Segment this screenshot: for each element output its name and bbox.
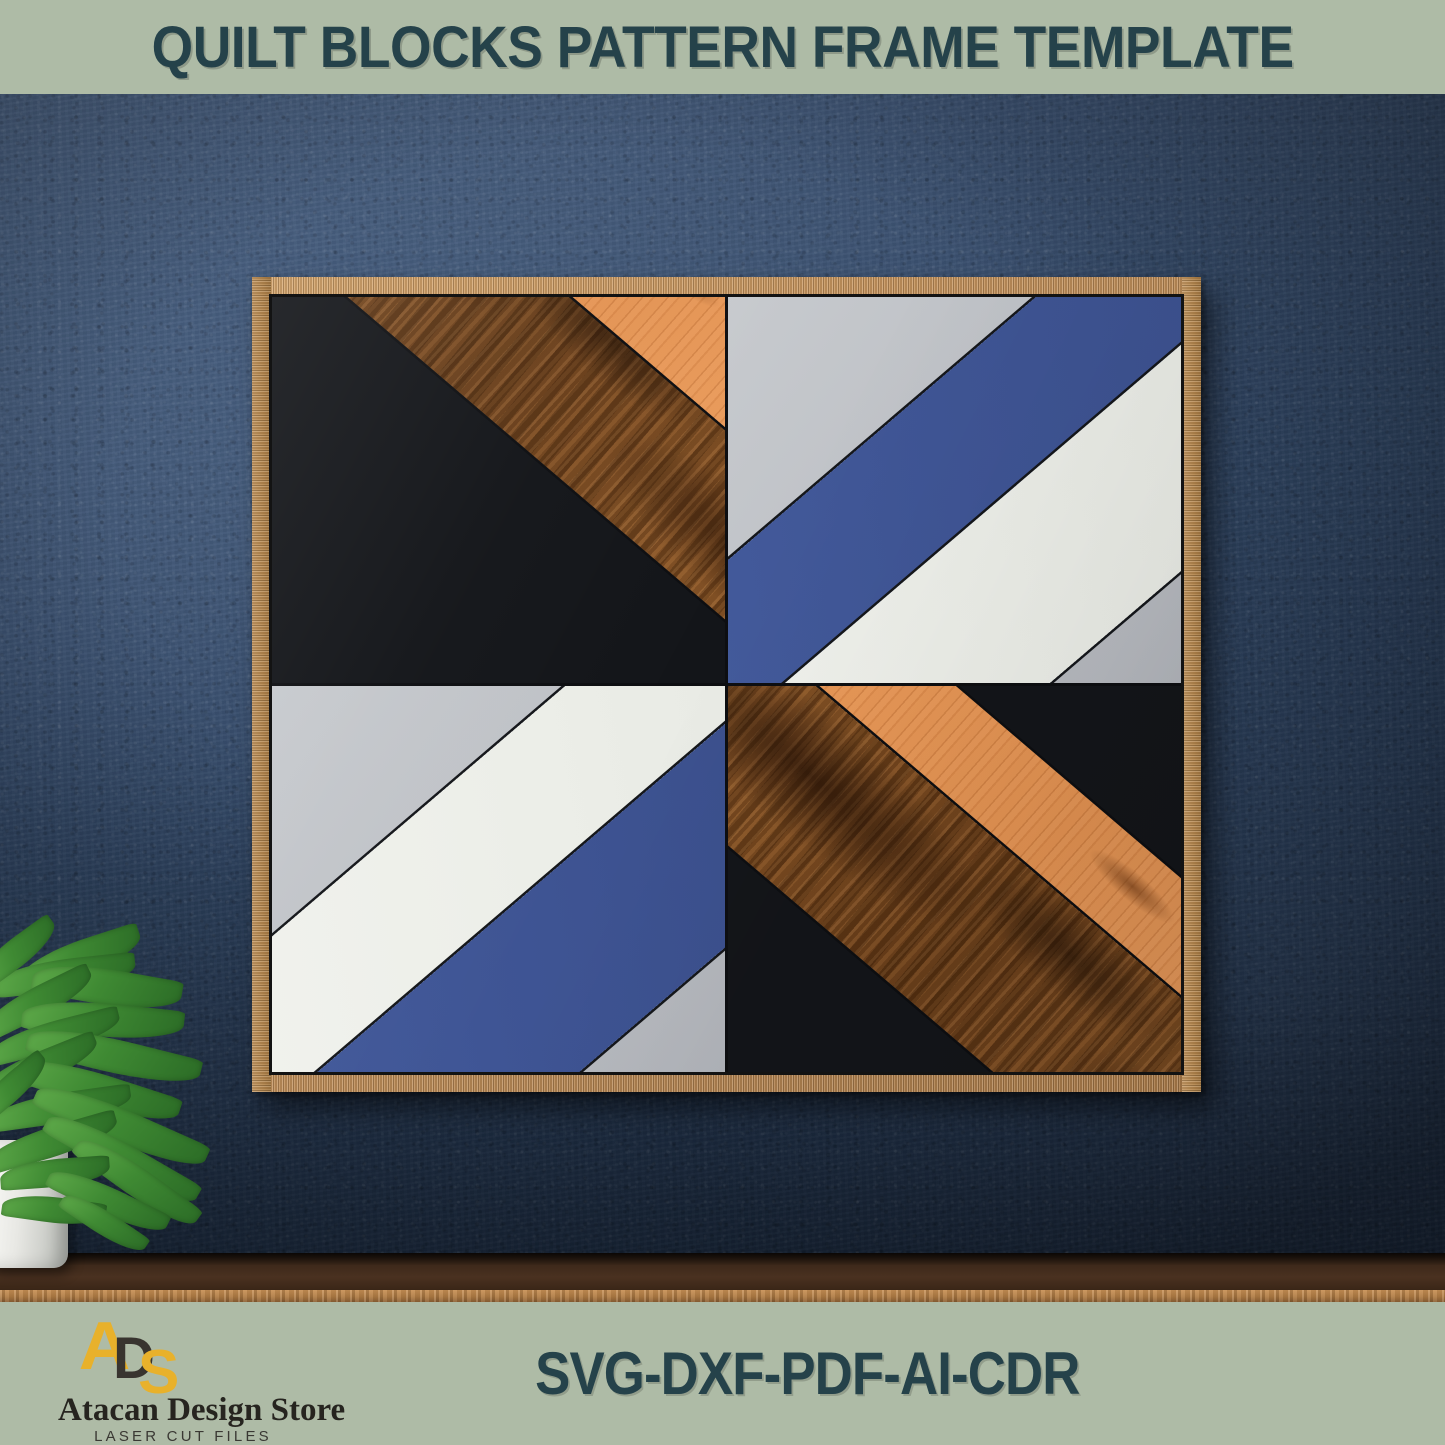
header-banner: QUILT BLOCKS PATTERN FRAME TEMPLATE [0, 0, 1445, 94]
frame-rail-right [1182, 277, 1201, 1092]
quilt-quadrant-bottom-left [272, 685, 726, 1072]
footer-banner: A D S Atacan Design Store LASER CUT FILE… [0, 1302, 1445, 1445]
file-formats-label: SVG-DXF-PDF-AI-CDR [535, 1339, 1079, 1408]
quilt-block-artwork [272, 297, 1181, 1072]
quilt-frame [252, 277, 1201, 1092]
quilt-quadrant-bottom-right [727, 685, 1181, 1072]
plant-foliage [0, 935, 282, 1265]
file-formats-row: SVG-DXF-PDF-AI-CDR [0, 1302, 1445, 1445]
quilt-seam-horizontal [272, 683, 1181, 686]
shelf-front-edge [0, 1290, 1445, 1302]
page-title: QUILT BLOCKS PATTERN FRAME TEMPLATE [152, 14, 1294, 81]
quilt-quadrant-top-left [272, 297, 726, 684]
scene-root: QUILT BLOCKS PATTERN FRAME TEMPLATE A D … [0, 0, 1445, 1445]
potted-plant [0, 935, 282, 1265]
quilt-quadrant-top-right [727, 297, 1181, 684]
